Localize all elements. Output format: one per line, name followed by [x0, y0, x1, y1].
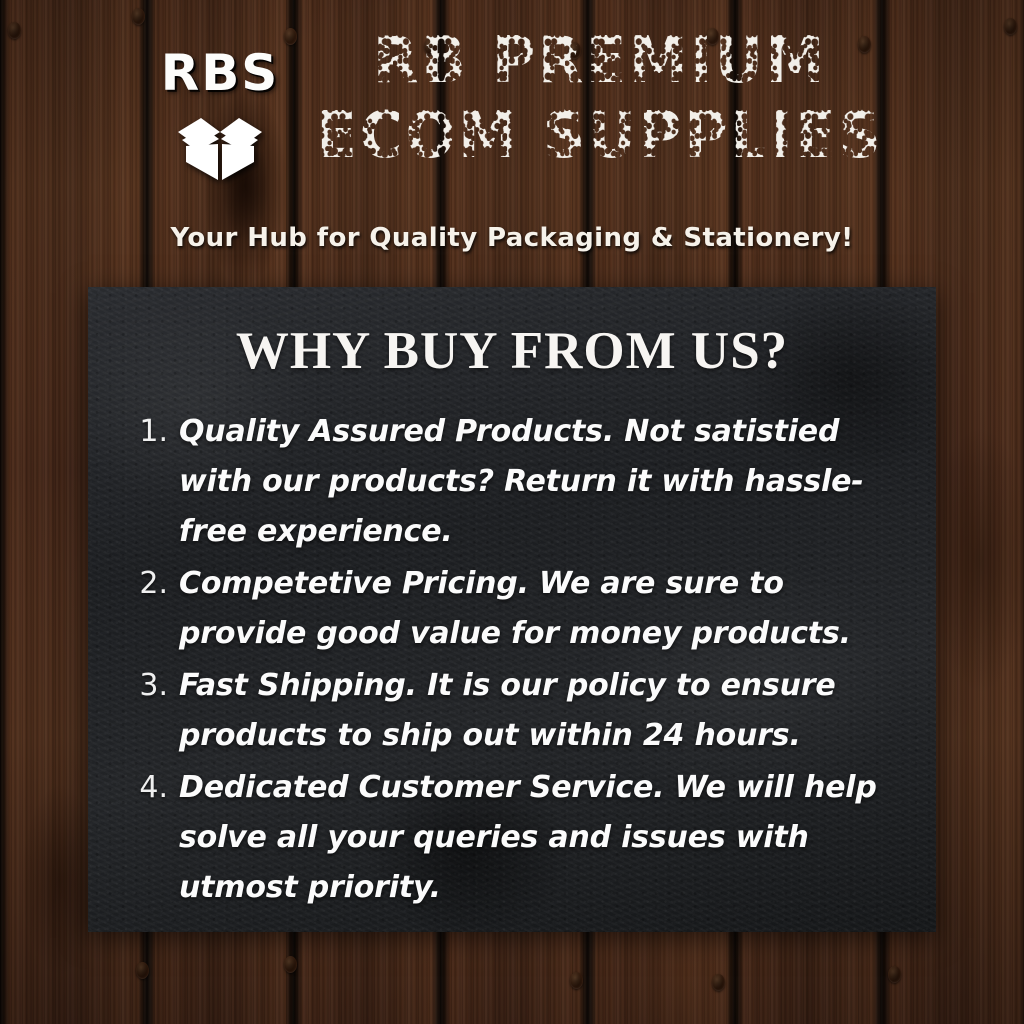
- open-box-icon: [174, 106, 266, 184]
- logo-monogram: RBS: [150, 48, 290, 98]
- promo-graphic: RBS RB PREMIUM ECOM SUPPLIES Your Hub fo…: [0, 0, 1024, 1024]
- benefit-number: 1.: [124, 407, 179, 457]
- panel-title: WHY BUY FROM US?: [88, 321, 936, 381]
- benefit-number: 2.: [124, 559, 179, 609]
- benefit-item: 2. Competetive Pricing. We are sure to p…: [124, 559, 906, 659]
- benefit-item: 1. Quality Assured Products. Not satisti…: [124, 407, 906, 557]
- benefits-list: 1. Quality Assured Products. Not satisti…: [124, 407, 906, 913]
- benefit-number: 4.: [124, 763, 179, 813]
- benefit-number: 3.: [124, 661, 179, 711]
- why-buy-panel: WHY BUY FROM US? 1. Quality Assured Prod…: [88, 287, 936, 932]
- header: RBS RB PREMIUM ECOM SUPPLIES Your Hub fo…: [0, 0, 1024, 287]
- brand-title-line-2: ECOM SUPPLIES: [315, 105, 885, 168]
- brand-title: RB PREMIUM ECOM SUPPLIES: [290, 30, 910, 167]
- benefit-text: Quality Assured Products. Not satistied …: [179, 407, 906, 557]
- brand-tagline: Your Hub for Quality Packaging & Station…: [0, 223, 1024, 253]
- benefit-text: Fast Shipping. It is our policy to ensur…: [179, 661, 906, 761]
- brand-logo: RBS: [150, 48, 290, 184]
- benefit-text: Dedicated Customer Service. We will help…: [179, 763, 906, 913]
- benefit-text: Competetive Pricing. We are sure to prov…: [179, 559, 906, 659]
- benefit-item: 3. Fast Shipping. It is our policy to en…: [124, 661, 906, 761]
- brand-title-line-1: RB PREMIUM: [315, 30, 885, 93]
- benefit-item: 4. Dedicated Customer Service. We will h…: [124, 763, 906, 913]
